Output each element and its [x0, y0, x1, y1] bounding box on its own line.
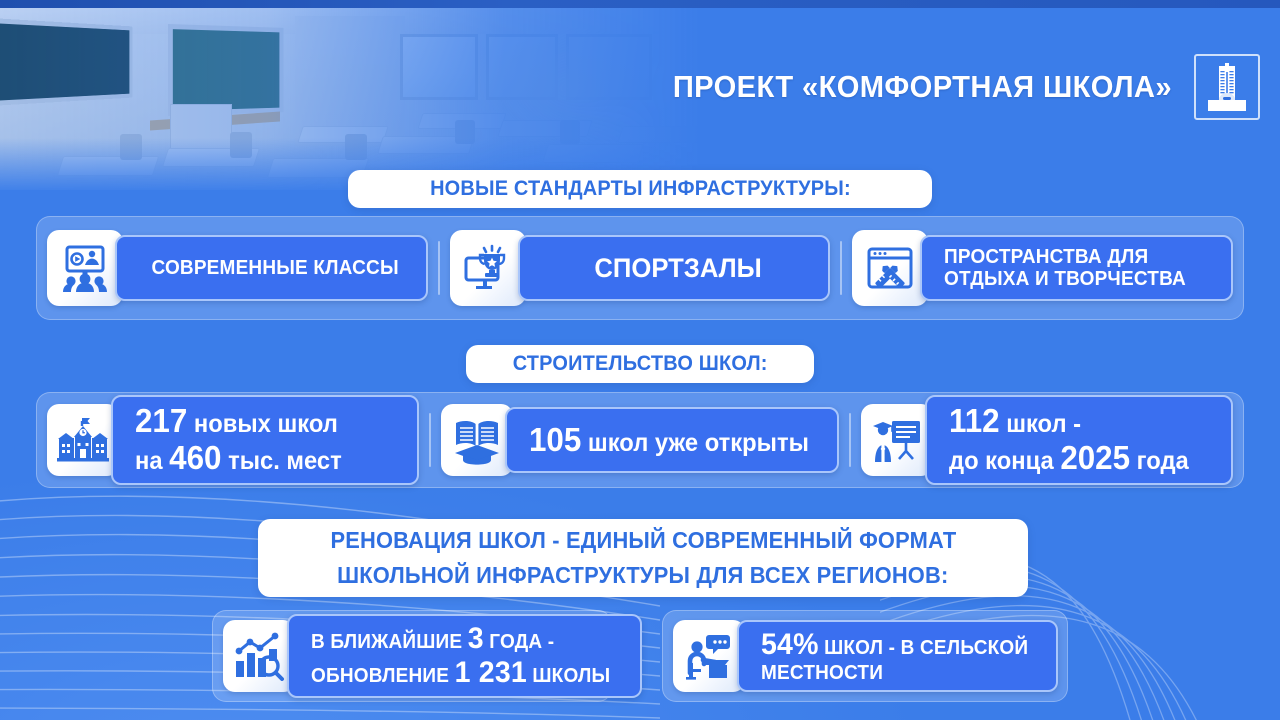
card-text-line1: ПРОСТРАНСТВА ДЛЯ: [944, 246, 1148, 268]
card-text-line1: 112 школ -: [949, 403, 1081, 440]
metric-value: 3: [468, 622, 484, 655]
card-text-line1: 217 новых школ: [135, 403, 338, 440]
section-heading-renovation: РЕНОВАЦИЯ ШКОЛ - ЕДИНЫЙ СОВРЕМЕННЫЙ ФОРМ…: [258, 519, 1028, 597]
section-heading-line1: РЕНОВАЦИЯ ШКОЛ - ЕДИНЫЙ СОВРЕМЕННЫЙ ФОРМ…: [330, 523, 956, 558]
design-tools-window-icon: [852, 230, 928, 306]
card-new-schools[interactable]: 217 новых школ на 460 тыс. мест: [37, 393, 429, 487]
card-label-schools-opened: 105 школ уже открыты: [505, 407, 840, 473]
card-rural-schools[interactable]: 54% ШКОЛ - В СЕЛЬСКОЙ МЕСТНОСТИ: [663, 611, 1068, 701]
metric-unit: ШКОЛ - В СЕЛЬСКОЙ: [824, 637, 1028, 659]
card-text: СОВРЕМЕННЫЕ КЛАССЫ: [152, 257, 399, 279]
page-title: ПРОЕКТ «КОМФОРТНАЯ ШКОЛА»: [673, 69, 1172, 105]
metric-unit: новых школ: [194, 410, 338, 438]
card-text-line2: ОТДЫХА И ТВОРЧЕСТВА: [944, 268, 1186, 290]
card-group-construction: 217 новых школ на 460 тыс. мест: [36, 392, 1244, 488]
section-heading-infrastructure: НОВЫЕ СТАНДАРТЫ ИНФРАСТРУКТУРЫ:: [348, 170, 932, 208]
metric-value: 2025: [1061, 439, 1131, 476]
card-renovation-3-years[interactable]: В БЛИЖАЙШИЕ 3 ГОДА - ОБНОВЛЕНИЕ 1 231 ШК…: [213, 611, 652, 701]
metric-value: 460: [169, 439, 221, 476]
card-text-line1: 105 школ уже открыты: [529, 422, 809, 459]
top-accent-strip: [0, 0, 1280, 8]
card-text-line1: В БЛИЖАЙШИЕ 3 ГОДА -: [311, 622, 554, 656]
metric-prefix: до конца: [949, 447, 1054, 475]
section-heading-text: НОВЫЕ СТАНДАРТЫ ИНФРАСТРУКТУРЫ:: [430, 177, 851, 201]
metric-unit: ШКОЛЫ: [532, 665, 610, 687]
metric-unit: школ -: [1006, 410, 1081, 438]
card-label-schools-by-2025: 112 школ - до конца 2025 года: [925, 395, 1233, 485]
card-text-line2: до конца 2025 года: [949, 440, 1189, 477]
infographic-slide: ПРОЕКТ «КОМФОРТНАЯ ШКОЛА»: [0, 0, 1280, 720]
card-text: СПОРТЗАЛЫ: [594, 253, 761, 283]
trophy-monitor-icon: [450, 230, 526, 306]
open-book-graduation-cap-icon: [441, 404, 513, 476]
card-schools-by-2025[interactable]: 112 школ - до конца 2025 года: [851, 393, 1243, 487]
header: ПРОЕКТ «КОМФОРТНАЯ ШКОЛА»: [640, 52, 1260, 122]
card-sport-halls[interactable]: СПОРТЗАЛЫ: [440, 217, 841, 319]
card-group-renovation-left: В БЛИЖАЙШИЕ 3 ГОДА - ОБНОВЛЕНИЕ 1 231 ШК…: [212, 610, 612, 702]
metric-unit: года: [1137, 447, 1189, 475]
metric-value: 217: [135, 402, 187, 439]
metric-value: 112: [949, 402, 1000, 439]
card-modern-classes[interactable]: СОВРЕМЕННЫЕ КЛАССЫ: [37, 217, 438, 319]
metric-unit: тыс. мест: [228, 447, 342, 475]
card-schools-opened[interactable]: 105 школ уже открыты: [431, 393, 850, 487]
card-text-line1: 54% ШКОЛ - В СЕЛЬСКОЙ: [761, 628, 1028, 662]
card-text-line2: на 460 тыс. мест: [135, 440, 342, 477]
card-label-modern-classes: СОВРЕМЕННЫЕ КЛАССЫ: [115, 235, 428, 301]
graduate-presentation-board-icon: [861, 404, 933, 476]
metric-unit: ГОДА -: [489, 631, 554, 653]
analytics-chart-search-icon: [223, 620, 295, 692]
metric-prefix: ОБНОВЛЕНИЕ: [311, 665, 449, 687]
metric-prefix: В БЛИЖАЙШИЕ: [311, 631, 462, 653]
metric-value: 54%: [761, 628, 819, 661]
section-heading-text: СТРОИТЕЛЬСТВО ШКОЛ:: [513, 352, 768, 376]
card-label-sport-halls: СПОРТЗАЛЫ: [518, 235, 831, 301]
section-heading-line2: ШКОЛЬНОЙ ИНФРАСТРУКТУРЫ ДЛЯ ВСЕХ РЕГИОНО…: [337, 558, 948, 593]
metric-value: 105: [529, 421, 581, 458]
metric-unit: школ уже открыты: [588, 429, 809, 457]
card-leisure-spaces[interactable]: ПРОСТРАНСТВА ДЛЯ ОТДЫХА И ТВОРЧЕСТВА: [842, 217, 1243, 319]
card-label-rural-schools: 54% ШКОЛ - В СЕЛЬСКОЙ МЕСТНОСТИ: [737, 620, 1058, 692]
building-icon: [1204, 62, 1250, 112]
classroom-photo: [0, 8, 700, 190]
card-text-line2: МЕСТНОСТИ: [761, 662, 883, 684]
student-desk-chat-icon: [673, 620, 745, 692]
card-text-line2: ОБНОВЛЕНИЕ 1 231 ШКОЛЫ: [311, 656, 610, 690]
metric-prefix: на: [135, 447, 163, 475]
government-building-logo: [1194, 54, 1260, 120]
school-building-icon: [47, 404, 119, 476]
card-label-leisure-spaces: ПРОСТРАНСТВА ДЛЯ ОТДЫХА И ТВОРЧЕСТВА: [920, 235, 1233, 301]
metric-value: 1 231: [455, 656, 527, 689]
section-heading-construction: СТРОИТЕЛЬСТВО ШКОЛ:: [466, 345, 814, 383]
presentation-audience-icon: [47, 230, 123, 306]
card-label-renovation-3-years: В БЛИЖАЙШИЕ 3 ГОДА - ОБНОВЛЕНИЕ 1 231 ШК…: [287, 614, 642, 697]
card-group-infrastructure: СОВРЕМЕННЫЕ КЛАССЫ СПОРТЗАЛЫ: [36, 216, 1244, 320]
card-group-renovation-right: 54% ШКОЛ - В СЕЛЬСКОЙ МЕСТНОСТИ: [662, 610, 1068, 702]
card-label-new-schools: 217 новых школ на 460 тыс. мест: [111, 395, 419, 485]
